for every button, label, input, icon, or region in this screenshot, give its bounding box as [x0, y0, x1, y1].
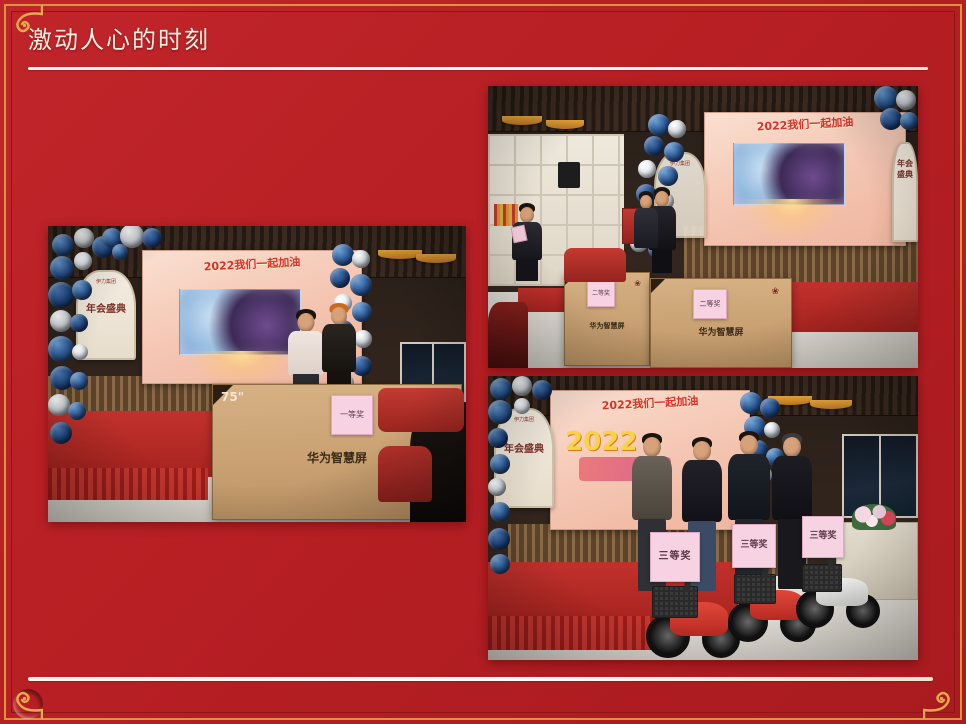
huawei-logo-icon: ❀: [634, 279, 641, 288]
background-red-chairs: [378, 388, 464, 432]
flower-bouquet: [852, 504, 896, 530]
prize-box-huawei-tv-right: ❀ 华为智慧屏 二等奖: [650, 278, 792, 368]
title-divider: [28, 67, 928, 70]
prize-rank-label-left: 二等奖: [587, 281, 615, 307]
paper-card-held: [510, 225, 527, 244]
photo-top-right[interactable]: 2022我们一起加油 年会盛典 伊力集团: [488, 86, 918, 368]
slide-header: 激动人心的时刻: [0, 26, 966, 70]
screen-banner-text: 2022我们一起加油: [551, 390, 750, 416]
page-title: 激动人心的时刻: [28, 26, 938, 56]
slide-canvas: 激动人心的时刻 2022我们一起加油 伊力集团: [0, 0, 966, 724]
spiral-ornament-icon-bottom-left: [13, 689, 43, 719]
plaque-title: 年会盛典: [894, 158, 916, 180]
box-size-label: 75": [221, 390, 244, 404]
balloon-arch-top-right: [866, 86, 918, 152]
ceremony-plaque-right: 年会盛典: [892, 142, 918, 242]
gold-swag-decor: [546, 120, 584, 129]
person-host-woman-2: [632, 192, 660, 254]
wall-speaker: [558, 162, 580, 188]
box-brand-label: 华为智慧屏: [651, 325, 791, 338]
foreground-red-chair: [378, 446, 432, 502]
foreground-person-red: [488, 302, 528, 368]
gold-swag-decor: [416, 254, 456, 263]
gold-swag-decor: [502, 116, 542, 125]
spiral-ornament-icon-bottom-right: [923, 689, 953, 719]
photo-bottom-right[interactable]: 2022我们一起加油 2022 伊力集团 年会盛典: [488, 376, 918, 660]
person-host: [320, 304, 358, 390]
prize-rank-label-2: 三等奖: [732, 524, 776, 568]
prize-rank-label: 一等奖: [331, 395, 373, 435]
red-sofa: [564, 248, 626, 282]
balloon-arch-top: [98, 226, 168, 276]
box-brand-label: 华为智慧屏: [565, 321, 649, 331]
screen-year-text: 2022: [565, 427, 637, 457]
footer-divider: [28, 677, 933, 681]
prize-rank-label-3: 三等奖: [802, 516, 844, 558]
prize-rank-label-1: 三等奖: [650, 532, 700, 582]
gold-swag-decor: [810, 400, 852, 409]
prize-rank-label-right: 二等奖: [693, 289, 727, 319]
huawei-logo-icon: ❀: [771, 287, 779, 297]
prize-scooter-3: 三等奖: [792, 528, 886, 632]
photo-left[interactable]: 2022我们一起加油 伊力集团 年会盛典: [48, 226, 466, 522]
prize-box-huawei-tv-left: ❀ 华为智慧屏 二等奖: [564, 272, 650, 366]
balloon-arch-left: [488, 376, 554, 586]
